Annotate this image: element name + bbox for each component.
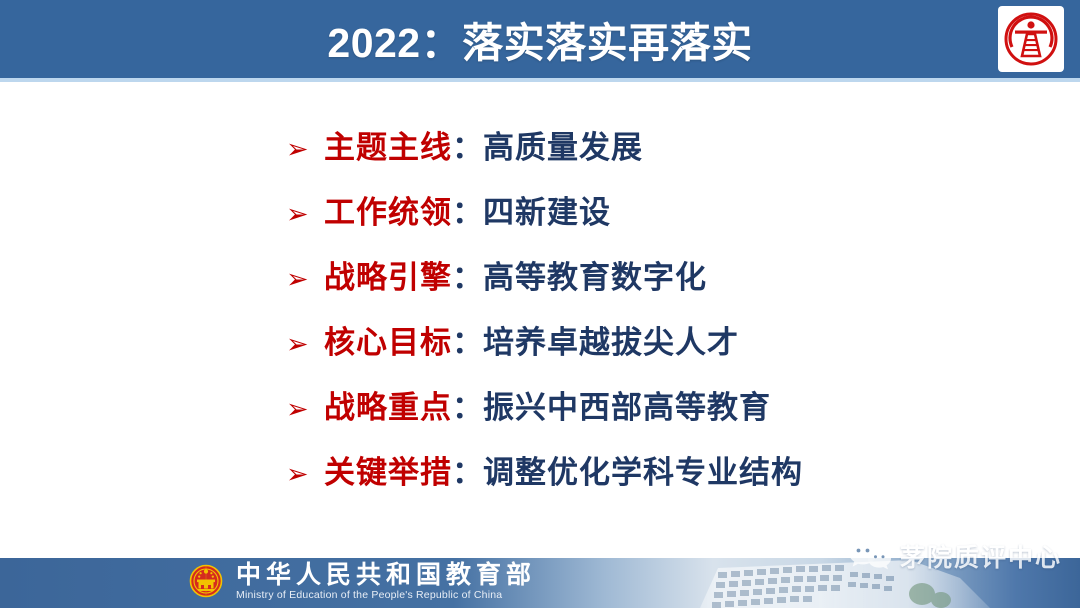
list-item-value: 四新建设 <box>483 187 611 232</box>
list-item-value: 高等教育数字化 <box>483 252 707 297</box>
ministry-of-education-mark: 中华人民共和国教育部 Ministry of Education of the … <box>186 560 536 604</box>
list-item: ➢ 关键举措 ： 调整优化学科专业结构 <box>286 447 803 512</box>
arrow-bullet-icon: ➢ <box>286 136 324 163</box>
list-item-separator: ： <box>452 252 483 297</box>
list-item-value: 振兴中西部高等教育 <box>483 382 771 427</box>
ministry-name-cn: 中华人民共和国教育部 <box>236 562 536 588</box>
list-item-value: 培养卓越拔尖人才 <box>483 317 739 362</box>
arrow-bullet-icon: ➢ <box>286 461 324 488</box>
national-emblem-of-china <box>186 560 226 604</box>
list-item-label: 关键举措 <box>324 447 452 492</box>
list-item-separator: ： <box>452 447 483 492</box>
ministry-text-block: 中华人民共和国教育部 Ministry of Education of the … <box>236 562 536 602</box>
list-item-separator: ： <box>452 187 483 232</box>
institution-red-circle-logo <box>998 6 1064 72</box>
bullet-list: ➢ 主题主线 ： 高质量发展 ➢ 工作统领 ： 四新建设 ➢ 战略引擎 ： 高等… <box>286 122 803 512</box>
list-item: ➢ 核心目标 ： 培养卓越拔尖人才 <box>286 317 803 382</box>
list-item-label: 核心目标 <box>324 317 452 362</box>
list-item-separator: ： <box>452 382 483 427</box>
arrow-bullet-icon: ➢ <box>286 396 324 423</box>
wechat-icon <box>848 539 892 573</box>
list-item: ➢ 工作统领 ： 四新建设 <box>286 187 803 252</box>
wechat-watermark: 茅院质评中心 <box>848 538 1062 574</box>
list-item: ➢ 战略引擎 ： 高等教育数字化 <box>286 252 803 317</box>
list-item: ➢ 战略重点 ： 振兴中西部高等教育 <box>286 382 803 447</box>
slide: 2022：落实落实再落实 ➢ 主题主线 ： 高质量发展 <box>0 0 1080 608</box>
list-item-separator: ： <box>452 317 483 362</box>
list-item-label: 战略重点 <box>324 382 452 427</box>
list-item-label: 主题主线 <box>324 122 452 167</box>
slide-body: ➢ 主题主线 ： 高质量发展 ➢ 工作统领 ： 四新建设 ➢ 战略引擎 ： 高等… <box>0 82 1080 558</box>
page-title: 2022：落实落实再落实 <box>0 0 1080 78</box>
list-item-value: 调整优化学科专业结构 <box>483 447 803 492</box>
list-item: ➢ 主题主线 ： 高质量发展 <box>286 122 803 187</box>
arrow-bullet-icon: ➢ <box>286 331 324 358</box>
list-item-label: 战略引擎 <box>324 252 452 297</box>
watermark-label: 茅院质评中心 <box>900 538 1062 574</box>
list-item-label: 工作统领 <box>324 187 452 232</box>
list-item-separator: ： <box>452 122 483 167</box>
arrow-bullet-icon: ➢ <box>286 266 324 293</box>
arrow-bullet-icon: ➢ <box>286 201 324 228</box>
ministry-name-en: Ministry of Education of the People's Re… <box>236 589 536 602</box>
list-item-value: 高质量发展 <box>483 122 643 167</box>
